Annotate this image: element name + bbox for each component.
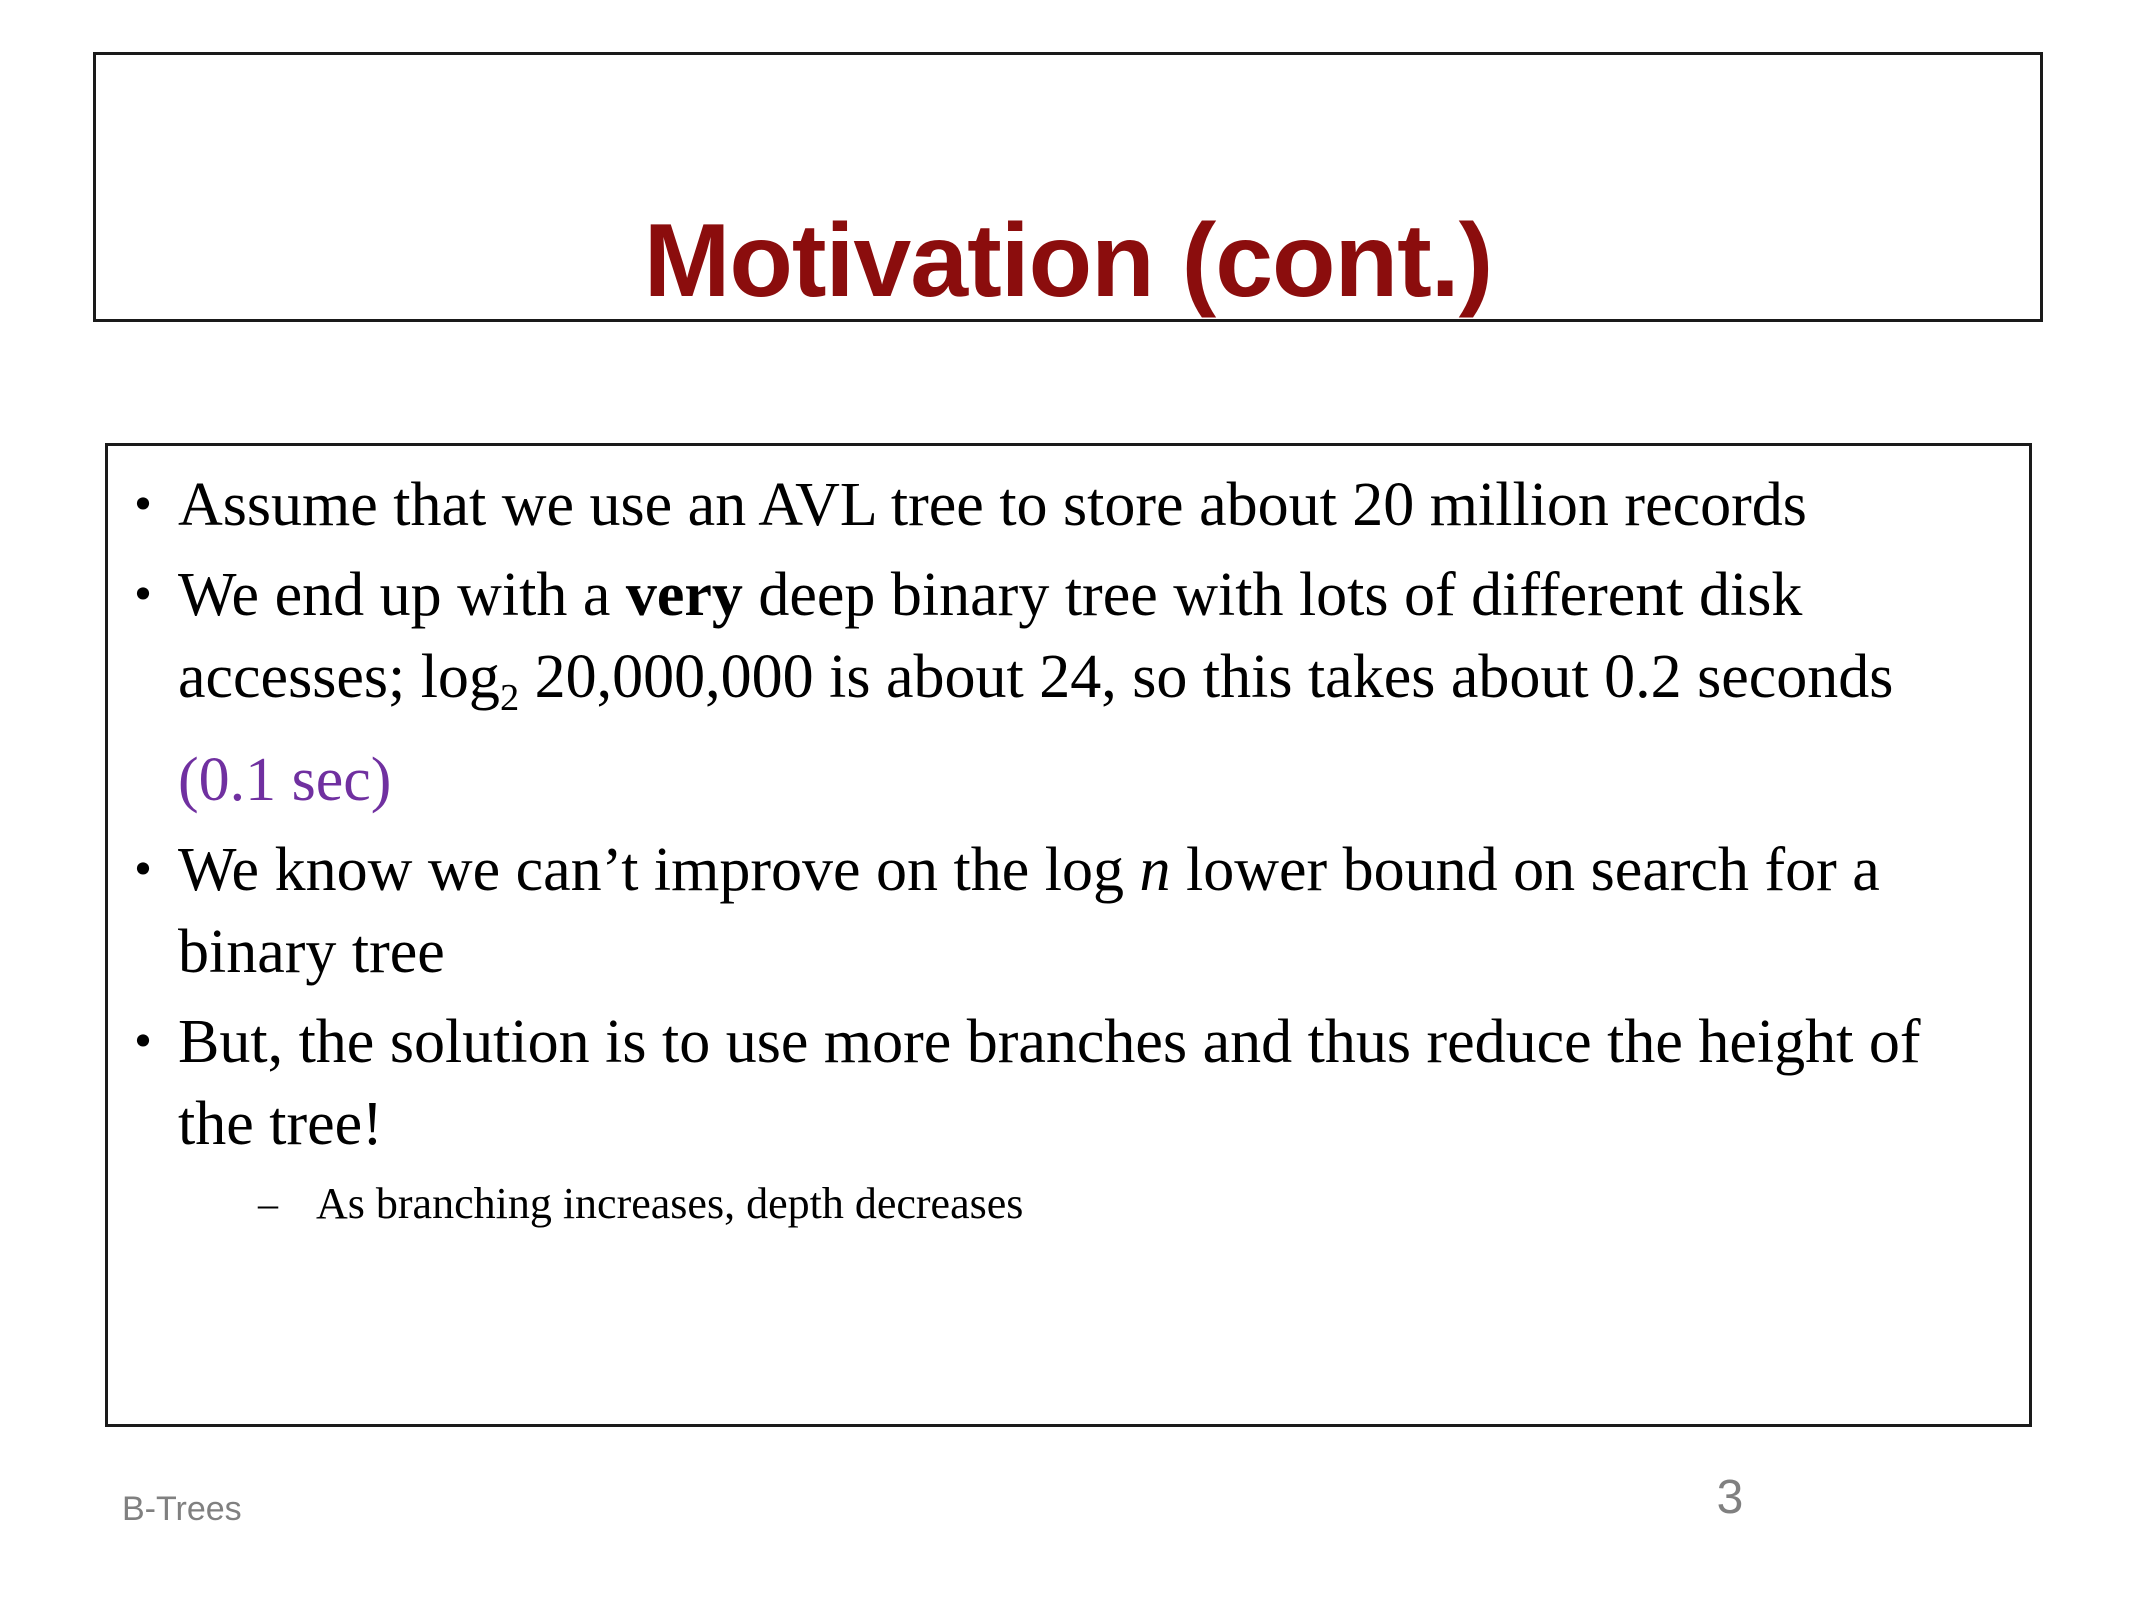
footer-label: B-Trees (122, 1488, 242, 1530)
page-number: 3 (1700, 1470, 1760, 1526)
bullet-item: •We end up with a very deep binary tree … (108, 554, 2007, 821)
bullet-text-segment: We end up with a (178, 561, 626, 629)
bullet-marker-icon: • (108, 464, 178, 546)
bullet-text: Assume that we use an AVL tree to store … (178, 464, 2007, 546)
bullet-text: But, the solution is to use more branche… (178, 1001, 2007, 1165)
bullet-text: We end up with a very deep binary tree w… (178, 554, 2007, 821)
bullet-text-segment: 2 (500, 677, 519, 719)
bullet-item: •But, the solution is to use more branch… (108, 1001, 2007, 1165)
bullet-text-segment: 20,000,000 is about 24, so this takes ab… (519, 643, 1893, 711)
title-frame: Motivation (cont.) (93, 52, 2043, 322)
sub-bullet-item: –As branching increases, depth decreases (258, 1173, 2007, 1235)
bullet-text-segment: (0.1 sec) (178, 746, 391, 814)
bullet-list: •Assume that we use an AVL tree to store… (108, 464, 2029, 1235)
bullet-text-segment: Assume that we use an AVL tree to store … (178, 471, 1807, 539)
sub-bullet-text: As branching increases, depth decreases (316, 1173, 2007, 1235)
bullet-marker-icon: • (108, 829, 178, 911)
bullet-item: •We know we can’t improve on the log n l… (108, 829, 2007, 993)
sub-bullet-marker-icon: – (258, 1173, 316, 1235)
bullet-marker-icon: • (108, 554, 178, 636)
bullet-text: We know we can’t improve on the log n lo… (178, 829, 2007, 993)
bullet-text-segment: We know we can’t improve on the log (178, 836, 1140, 904)
page-title: Motivation (cont.) (96, 209, 2040, 313)
bullet-item: •Assume that we use an AVL tree to store… (108, 464, 2007, 546)
content-frame: •Assume that we use an AVL tree to store… (105, 443, 2032, 1427)
bullet-text-segment: n (1140, 836, 1171, 904)
bullet-text-segment: But, the solution is to use more branche… (178, 1008, 1921, 1158)
bullet-text-segment: very (626, 561, 743, 629)
bullet-marker-icon: • (108, 1001, 178, 1083)
